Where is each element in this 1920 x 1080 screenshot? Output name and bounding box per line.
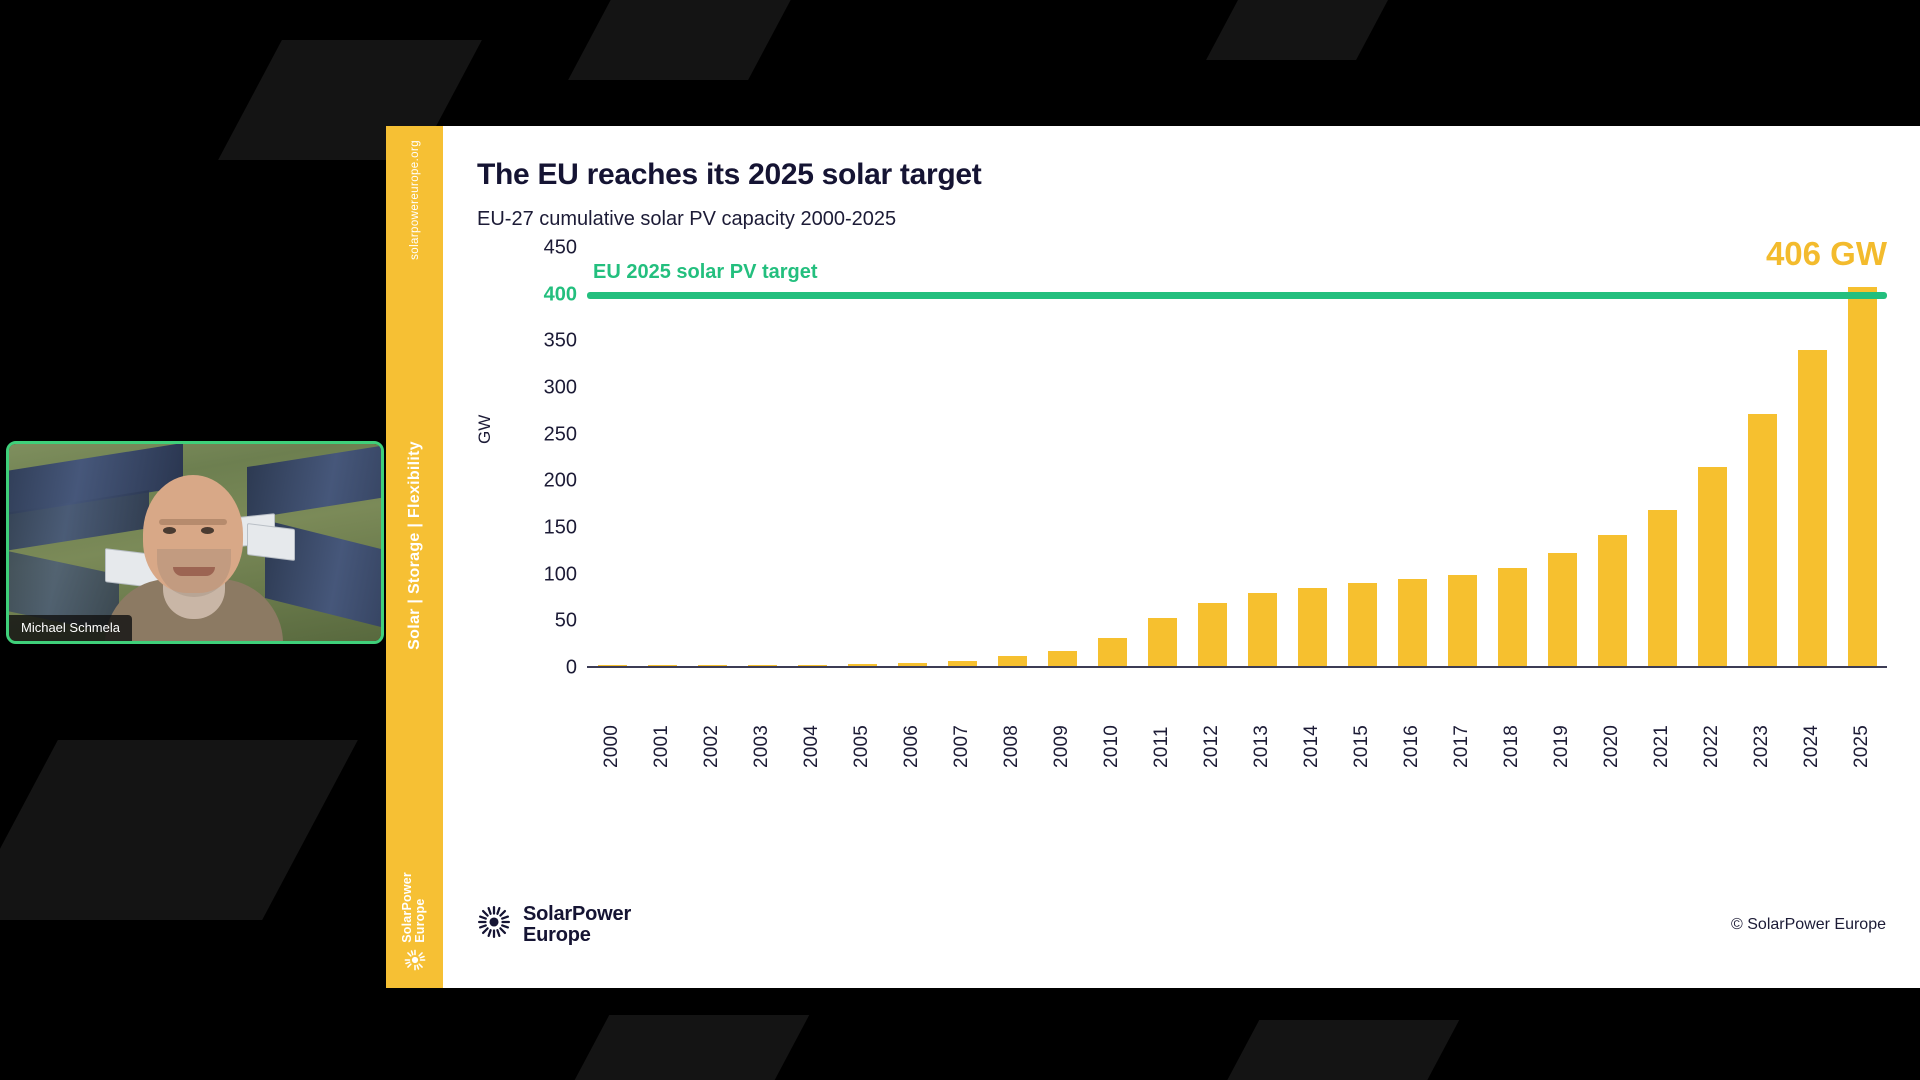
bar-slot (1087, 246, 1137, 666)
bar[interactable] (848, 664, 877, 666)
bar-slot (937, 246, 987, 666)
participant-name-label: Michael Schmela (9, 615, 132, 641)
bar[interactable] (1748, 414, 1777, 666)
plot-area: EU 2025 solar PV target 406 GW (587, 248, 1887, 668)
x-axis-tick: 2010 (1101, 676, 1123, 768)
x-axis-ticks: 2000200120022003200420052006200720082009… (587, 676, 1887, 768)
x-tick-slot: 2021 (1637, 676, 1687, 768)
bar-slot (1337, 246, 1387, 666)
x-axis-tick: 2004 (801, 676, 823, 768)
sun-icon (477, 905, 511, 944)
y-axis-tick: 200 (544, 470, 577, 493)
bar-slot (1237, 246, 1287, 666)
bar-slot (1287, 246, 1337, 666)
bar-slot (687, 246, 737, 666)
x-tick-slot: 2019 (1537, 676, 1587, 768)
x-axis-tick: 2013 (1251, 676, 1273, 768)
y-axis-tick: 0 (566, 657, 577, 680)
bar[interactable] (1348, 583, 1377, 666)
video-participant-tile[interactable]: SolarPower Europe Solar Storage Flexibil… (6, 441, 384, 644)
y-axis-tick: 400 (544, 283, 577, 306)
x-tick-slot: 2007 (937, 676, 987, 768)
x-tick-slot: 2020 (1587, 676, 1637, 768)
sidebar-logo-text: SolarPower Europe (401, 872, 427, 943)
bar-slot (887, 246, 937, 666)
bar-slot (1137, 246, 1187, 666)
background-shape (1201, 1020, 1459, 1080)
target-line-label: EU 2025 solar PV target (593, 261, 818, 284)
bar-series (587, 246, 1887, 666)
x-axis-tick: 2002 (701, 676, 723, 768)
x-axis-tick: 2009 (1051, 676, 1073, 768)
background-shape (551, 1015, 809, 1080)
x-tick-slot: 2005 (837, 676, 887, 768)
x-axis-tick: 2017 (1451, 676, 1473, 768)
peak-value-label: 406 GW (1766, 235, 1887, 273)
x-tick-slot: 2014 (1287, 676, 1337, 768)
sun-icon (404, 949, 426, 976)
brand-logo: SolarPower Europe (477, 904, 631, 946)
x-tick-slot: 2006 (887, 676, 937, 768)
bar-slot (1387, 246, 1437, 666)
bar[interactable] (798, 665, 827, 666)
x-tick-slot: 2012 (1187, 676, 1237, 768)
x-tick-slot: 2017 (1437, 676, 1487, 768)
x-tick-slot: 2003 (737, 676, 787, 768)
x-axis-tick: 2021 (1651, 676, 1673, 768)
x-axis-tick: 2025 (1851, 676, 1873, 768)
screen: solarpowereurope.org Solar | Storage | F… (0, 0, 1920, 1080)
bar-slot (1587, 246, 1637, 666)
bar-chart: GW 050100150200250300350400450 EU 2025 s… (477, 248, 1887, 848)
x-tick-slot: 2025 (1837, 676, 1887, 768)
y-axis-tick: 50 (555, 610, 577, 633)
bar[interactable] (648, 665, 677, 666)
video-feed (9, 444, 381, 641)
x-axis-tick: 2015 (1351, 676, 1373, 768)
x-tick-slot: 2000 (587, 676, 637, 768)
bar[interactable] (948, 661, 977, 666)
presentation-slide: solarpowereurope.org Solar | Storage | F… (386, 126, 1920, 988)
y-axis-tick: 150 (544, 517, 577, 540)
bar-slot (787, 246, 837, 666)
bar[interactable] (1398, 579, 1427, 666)
bar-slot (1687, 246, 1737, 666)
x-axis-tick: 2001 (651, 676, 673, 768)
bar-slot (1837, 246, 1887, 666)
bar-slot (1787, 246, 1837, 666)
y-axis-tick: 300 (544, 377, 577, 400)
x-axis-tick: 2014 (1301, 676, 1323, 768)
bar[interactable] (1848, 287, 1877, 666)
x-axis-tick: 2003 (751, 676, 773, 768)
bar-slot (837, 246, 887, 666)
sidebar-logo: SolarPower Europe (386, 872, 443, 976)
x-axis-tick: 2019 (1551, 676, 1573, 768)
x-axis-tick: 2012 (1201, 676, 1223, 768)
y-axis-label: GW (475, 415, 495, 444)
x-tick-slot: 2004 (787, 676, 837, 768)
x-tick-slot: 2018 (1487, 676, 1537, 768)
bar[interactable] (1298, 588, 1327, 666)
x-tick-slot: 2009 (1037, 676, 1087, 768)
brand-name: SolarPower Europe (523, 904, 631, 946)
x-tick-slot: 2024 (1787, 676, 1837, 768)
video-overlay-header: SolarPower Europe Solar Storage Flexibil… (9, 641, 381, 644)
bar-slot (987, 246, 1037, 666)
bar-slot (1537, 246, 1587, 666)
x-axis-tick: 2006 (901, 676, 923, 768)
x-axis-tick: 2024 (1801, 676, 1823, 768)
bar-slot (1487, 246, 1537, 666)
background-shape (1206, 0, 1404, 60)
bar[interactable] (1148, 618, 1177, 666)
x-tick-slot: 2022 (1687, 676, 1737, 768)
y-axis-ticks: 050100150200250300350400450 (495, 248, 577, 668)
x-tick-slot: 2002 (687, 676, 737, 768)
bar[interactable] (1048, 651, 1077, 666)
copyright-text: © SolarPower Europe (1731, 916, 1886, 934)
target-line (587, 292, 1887, 299)
bar[interactable] (1498, 568, 1527, 666)
x-tick-slot: 2010 (1087, 676, 1137, 768)
x-tick-slot: 2013 (1237, 676, 1287, 768)
slide-content: The EU reaches its 2025 solar target EU-… (443, 126, 1920, 988)
bar[interactable] (1598, 535, 1627, 666)
background-shape (0, 740, 358, 920)
x-axis-tick: 2018 (1501, 676, 1523, 768)
sidebar-tagline: Solar | Storage | Flexibility (406, 441, 424, 650)
slide-footer: SolarPower Europe © SolarPower Europe (477, 904, 1886, 946)
x-tick-slot: 2016 (1387, 676, 1437, 768)
x-tick-slot: 2008 (987, 676, 1037, 768)
slide-title: The EU reaches its 2025 solar target (477, 158, 1886, 192)
bar-slot (637, 246, 687, 666)
bar[interactable] (1698, 467, 1727, 666)
background-shape (568, 0, 812, 80)
x-tick-slot: 2001 (637, 676, 687, 768)
x-axis-tick: 2020 (1601, 676, 1623, 768)
bar[interactable] (1448, 575, 1477, 666)
bar[interactable] (898, 663, 927, 666)
x-tick-slot: 2023 (1737, 676, 1787, 768)
bar[interactable] (1098, 638, 1127, 666)
slide-sidebar: solarpowereurope.org Solar | Storage | F… (386, 126, 443, 988)
bar[interactable] (1548, 553, 1577, 666)
y-axis-tick: 100 (544, 563, 577, 586)
bar-slot (1737, 246, 1787, 666)
x-axis-tick: 2007 (951, 676, 973, 768)
slide-subtitle: EU-27 cumulative solar PV capacity 2000-… (477, 208, 1886, 231)
x-axis-tick: 2016 (1401, 676, 1423, 768)
x-axis-tick: 2000 (601, 676, 623, 768)
sidebar-website-url: solarpowereurope.org (409, 140, 421, 260)
x-axis-tick: 2023 (1751, 676, 1773, 768)
bar[interactable] (1648, 510, 1677, 666)
bar[interactable] (998, 656, 1027, 666)
y-axis-tick: 350 (544, 330, 577, 353)
bar[interactable] (598, 665, 627, 666)
x-axis-tick: 2011 (1151, 676, 1173, 768)
y-axis-tick: 450 (544, 237, 577, 260)
bar-slot (1637, 246, 1687, 666)
bar-slot (1437, 246, 1487, 666)
bar-slot (1037, 246, 1087, 666)
x-axis-tick: 2008 (1001, 676, 1023, 768)
x-axis-tick: 2005 (851, 676, 873, 768)
bar-slot (587, 246, 637, 666)
bar[interactable] (1248, 593, 1277, 666)
bar[interactable] (698, 665, 727, 666)
x-tick-slot: 2011 (1137, 676, 1187, 768)
x-tick-slot: 2015 (1337, 676, 1387, 768)
bar-slot (1187, 246, 1237, 666)
bar[interactable] (1198, 603, 1227, 666)
bar[interactable] (1798, 350, 1827, 666)
bar-slot (737, 246, 787, 666)
y-axis-tick: 250 (544, 423, 577, 446)
bar[interactable] (748, 665, 777, 666)
x-axis-tick: 2022 (1701, 676, 1723, 768)
